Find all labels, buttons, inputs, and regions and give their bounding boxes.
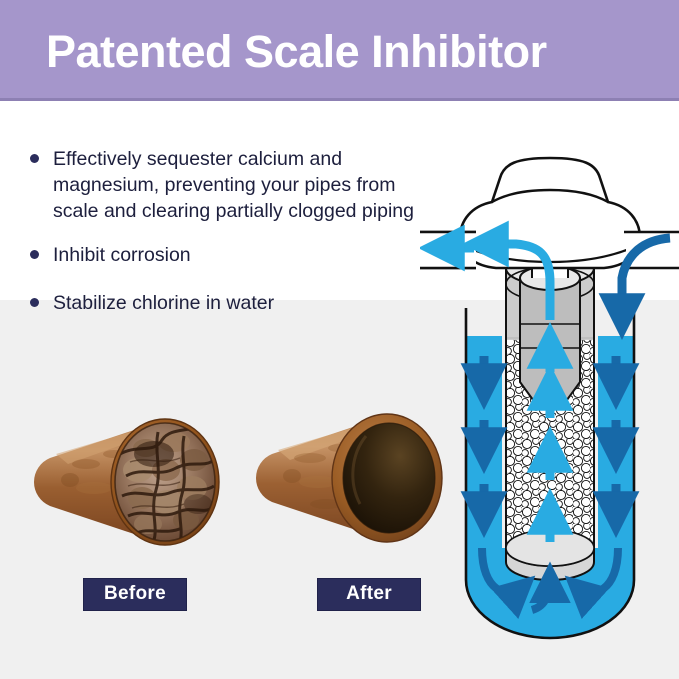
benefit-text: Effectively sequester calcium and magnes… xyxy=(53,146,445,224)
header-divider xyxy=(0,98,679,101)
filter-diagram-svg xyxy=(420,150,679,640)
list-item: Stabilize chlorine in water xyxy=(30,290,445,316)
filter-diagram xyxy=(420,150,679,640)
bullet-dot-icon xyxy=(30,154,39,163)
badge-before: Before xyxy=(83,578,187,611)
list-item: Effectively sequester calcium and magnes… xyxy=(30,146,445,224)
infographic-page: Patented Scale Inhibitor Effectively seq… xyxy=(0,0,679,679)
benefit-text: Inhibit corrosion xyxy=(53,242,445,268)
before-pipe-image xyxy=(34,392,246,564)
bullet-dot-icon xyxy=(30,298,39,307)
benefit-text: Stabilize chlorine in water xyxy=(53,290,445,316)
before-pipe-svg xyxy=(34,392,246,564)
benefits-list: Effectively sequester calcium and magnes… xyxy=(30,146,445,334)
filter-cap xyxy=(460,158,640,268)
bullet-dot-icon xyxy=(30,250,39,259)
page-title: Patented Scale Inhibitor xyxy=(46,27,646,77)
badge-after: After xyxy=(317,578,421,611)
list-item: Inhibit corrosion xyxy=(30,242,445,268)
